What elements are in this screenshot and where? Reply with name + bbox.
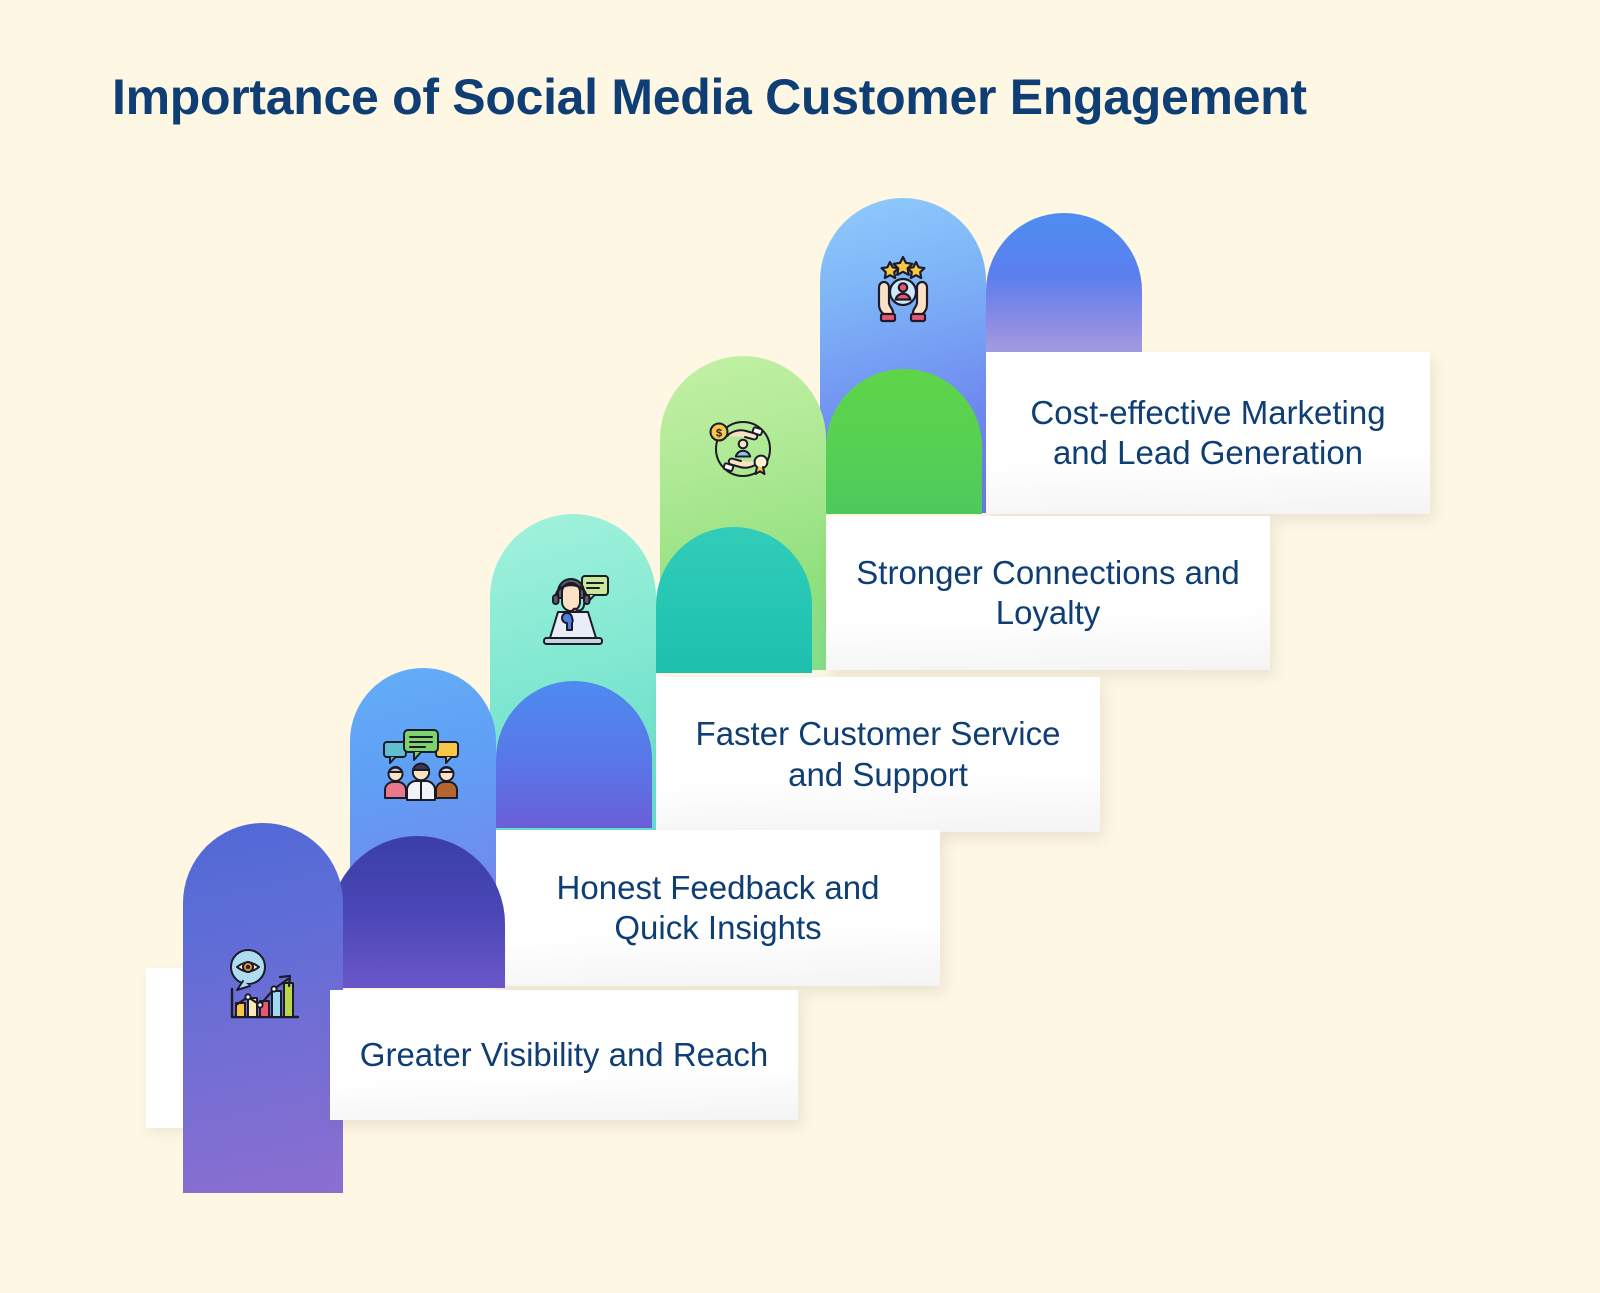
hands-holding-person-stars-icon bbox=[860, 248, 946, 334]
step-label-panel: Honest Feedback and Quick Insights bbox=[496, 830, 940, 986]
support-agent-headset-laptop-icon bbox=[530, 564, 616, 650]
step-arch-back bbox=[496, 681, 652, 828]
three-people-chat-bubbles-icon bbox=[378, 718, 464, 804]
step-arch-back bbox=[986, 213, 1142, 356]
step-label: Cost-effective Marketing and Lead Genera… bbox=[986, 393, 1430, 474]
step-label: Stronger Connections and Loyalty bbox=[826, 553, 1270, 634]
step-label-panel: Stronger Connections and Loyalty bbox=[826, 516, 1270, 670]
svg-text:$: $ bbox=[716, 428, 722, 440]
step-label-panel: Greater Visibility and Reach bbox=[330, 990, 798, 1120]
eye-bubble-growth-chart-icon bbox=[218, 943, 304, 1029]
hands-money-person-badge-cycle-icon: $ bbox=[700, 406, 786, 492]
step-label: Faster Customer Service and Support bbox=[656, 714, 1100, 795]
step-label-panel: Cost-effective Marketing and Lead Genera… bbox=[986, 352, 1430, 514]
step-label: Honest Feedback and Quick Insights bbox=[496, 868, 940, 949]
step-label-panel: Faster Customer Service and Support bbox=[656, 677, 1100, 832]
page-title: Importance of Social Media Customer Enga… bbox=[112, 68, 1512, 126]
infographic-canvas: Importance of Social Media Customer Enga… bbox=[0, 0, 1600, 1293]
step-arch-back bbox=[656, 527, 812, 673]
step-label: Greater Visibility and Reach bbox=[342, 1035, 786, 1075]
step-arch-back bbox=[826, 369, 982, 514]
